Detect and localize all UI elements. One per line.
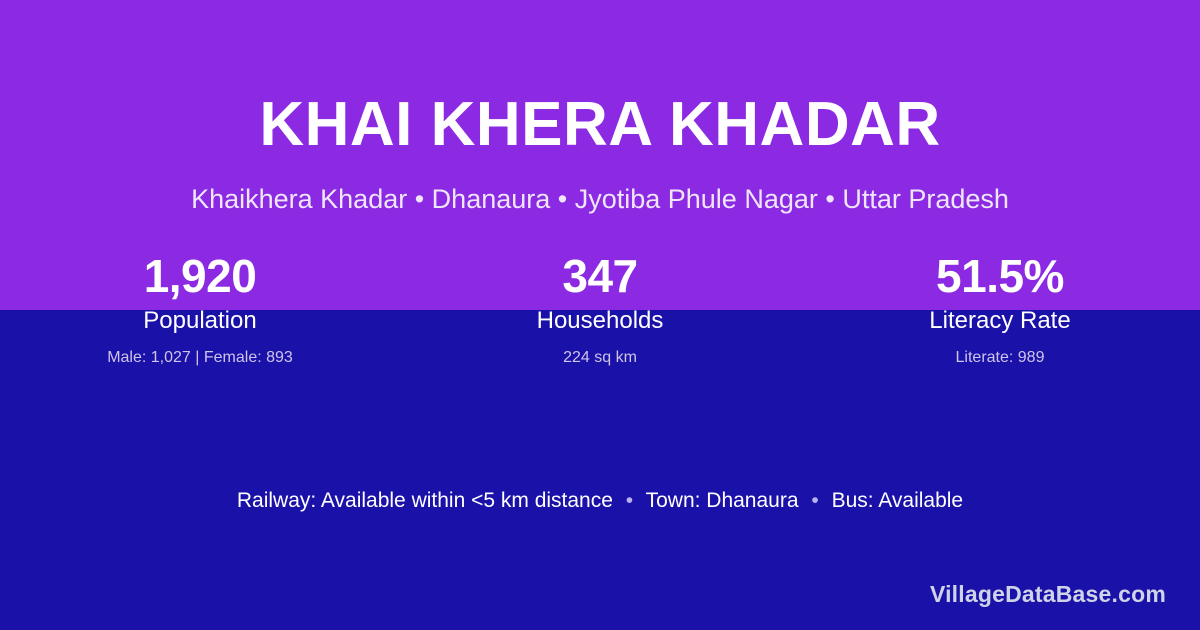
village-info-card: KHAI KHERA KHADAR Khaikhera Khadar • Dha…: [0, 0, 1200, 630]
stat-population: 1,920 Population Male: 1,027 | Female: 8…: [0, 248, 400, 369]
stat-label: Households: [400, 306, 800, 336]
breadcrumb: Khaikhera Khadar • Dhanaura • Jyotiba Ph…: [0, 180, 1200, 218]
stat-label: Population: [0, 306, 400, 336]
stat-value: 1,920: [0, 248, 400, 304]
facility-town: Town: Dhanaura: [646, 489, 799, 512]
bullet-separator: •: [804, 489, 825, 512]
stat-sublabel: 224 sq km: [400, 347, 800, 369]
stat-sublabel: Literate: 989: [800, 347, 1200, 369]
facility-bus: Bus: Available: [832, 489, 964, 512]
facilities-line: Railway: Available within <5 km distance…: [0, 486, 1200, 516]
bullet-separator: •: [619, 489, 640, 512]
stat-literacy-rate: 51.5% Literacy Rate Literate: 989: [800, 248, 1200, 369]
stat-sublabel: Male: 1,027 | Female: 893: [0, 347, 400, 369]
stat-label: Literacy Rate: [800, 306, 1200, 336]
page-title: KHAI KHERA KHADAR: [0, 88, 1200, 162]
stat-households: 347 Households 224 sq km: [400, 248, 800, 369]
stat-value: 51.5%: [800, 248, 1200, 304]
stats-row: 1,920 Population Male: 1,027 | Female: 8…: [0, 248, 1200, 369]
brand-watermark: VillageDataBase.com: [930, 581, 1166, 608]
facility-railway: Railway: Available within <5 km distance: [237, 489, 613, 512]
stat-value: 347: [400, 248, 800, 304]
